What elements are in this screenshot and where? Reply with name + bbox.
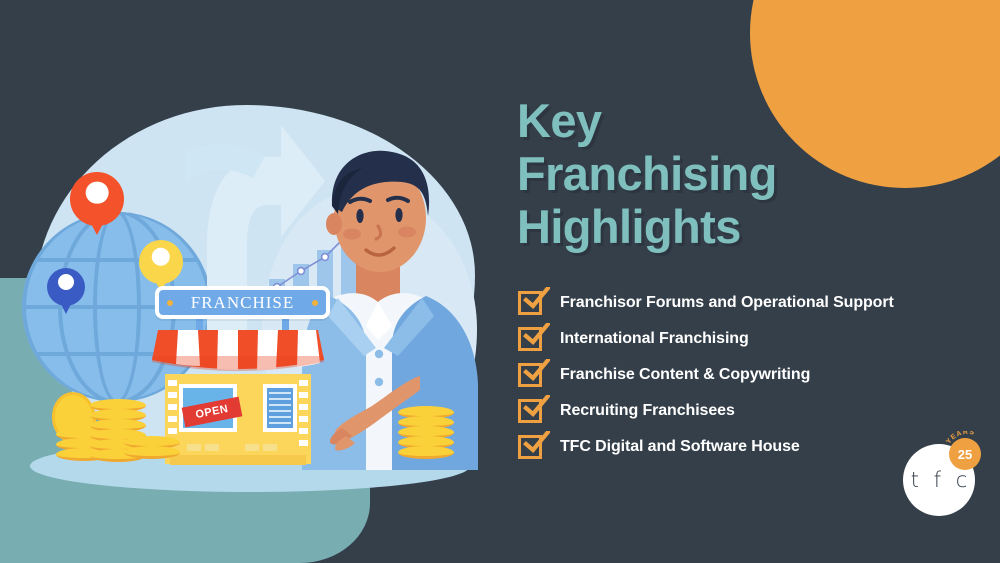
checkbox-checked-icon[interactable] <box>518 327 542 351</box>
map-pin-blue-icon <box>47 268 85 306</box>
door-slat <box>269 404 291 406</box>
check-mark-icon <box>522 431 550 455</box>
list-item-label: International Franchising <box>560 330 749 348</box>
shop-brick <box>168 392 177 398</box>
checkbox-checked-icon[interactable] <box>518 435 542 459</box>
list-item-label: Franchisor Forums and Operational Suppor… <box>560 294 894 312</box>
check-mark-icon <box>522 359 550 383</box>
check-mark-icon <box>522 395 550 419</box>
check-mark-icon <box>522 287 550 311</box>
list-item-label: Recruiting Franchisees <box>560 402 735 420</box>
coin <box>124 446 180 459</box>
list-item[interactable]: Franchise Content & Copywriting <box>518 357 988 393</box>
shop-door <box>263 384 297 432</box>
shop-brick <box>299 440 308 446</box>
pin-dot <box>86 181 109 204</box>
shop-awning-icon <box>152 330 324 378</box>
franchise-sign: FRANCHISE <box>155 286 330 319</box>
door-slat <box>269 416 291 418</box>
shop-brick <box>299 416 308 422</box>
door-slat <box>269 398 291 400</box>
checkbox-checked-icon[interactable] <box>518 363 542 387</box>
page-title: Key Franchising Highlights <box>517 94 947 253</box>
sign-bulb-left <box>167 300 173 306</box>
page-title-line-1: Key <box>517 94 947 147</box>
pin-dot <box>58 274 74 290</box>
shop-brick <box>168 416 177 422</box>
map-pin-yellow-icon <box>139 240 183 284</box>
shop-trim <box>187 444 201 451</box>
tfc-logo[interactable]: t f c YEARS 25 <box>903 444 975 516</box>
shop-trim <box>205 444 219 451</box>
page-title-line-2: Franchising <box>517 147 947 200</box>
list-item[interactable]: International Franchising <box>518 321 988 357</box>
anniversary-badge: 25 <box>949 438 981 470</box>
check-mark-icon <box>522 323 550 347</box>
page-title-line-3: Highlights <box>517 200 947 253</box>
slide-root: FRANCHISE OPEN <box>0 0 1000 563</box>
shop-brick <box>299 428 308 434</box>
list-item[interactable]: Recruiting Franchisees <box>518 393 988 429</box>
globe-parallel <box>22 258 212 262</box>
list-item-label: Franchise Content & Copywriting <box>560 366 810 384</box>
list-item-label: TFC Digital and Software House <box>560 438 800 456</box>
highlights-checklist: Franchisor Forums and Operational Suppor… <box>518 285 988 465</box>
door-slat <box>269 422 291 424</box>
shop-trim <box>263 444 277 451</box>
door-slat <box>269 392 291 394</box>
shop-brick <box>299 380 308 386</box>
checkbox-checked-icon[interactable] <box>518 291 542 315</box>
sign-bulb-right <box>312 300 318 306</box>
shop-brick <box>168 404 177 410</box>
map-pin-red-icon <box>70 172 124 226</box>
shop-brick <box>299 404 308 410</box>
coin <box>398 446 454 459</box>
checkbox-checked-icon[interactable] <box>518 399 542 423</box>
shop-brick <box>299 392 308 398</box>
list-item[interactable]: Franchisor Forums and Operational Suppor… <box>518 285 988 321</box>
shop-brick <box>168 428 177 434</box>
shop-brick <box>168 380 177 386</box>
franchise-sign-label: FRANCHISE <box>191 293 294 313</box>
shop-step <box>170 455 306 465</box>
door-slat <box>269 410 291 412</box>
shop-trim <box>245 444 259 451</box>
storefront-icon: OPEN <box>165 374 311 464</box>
